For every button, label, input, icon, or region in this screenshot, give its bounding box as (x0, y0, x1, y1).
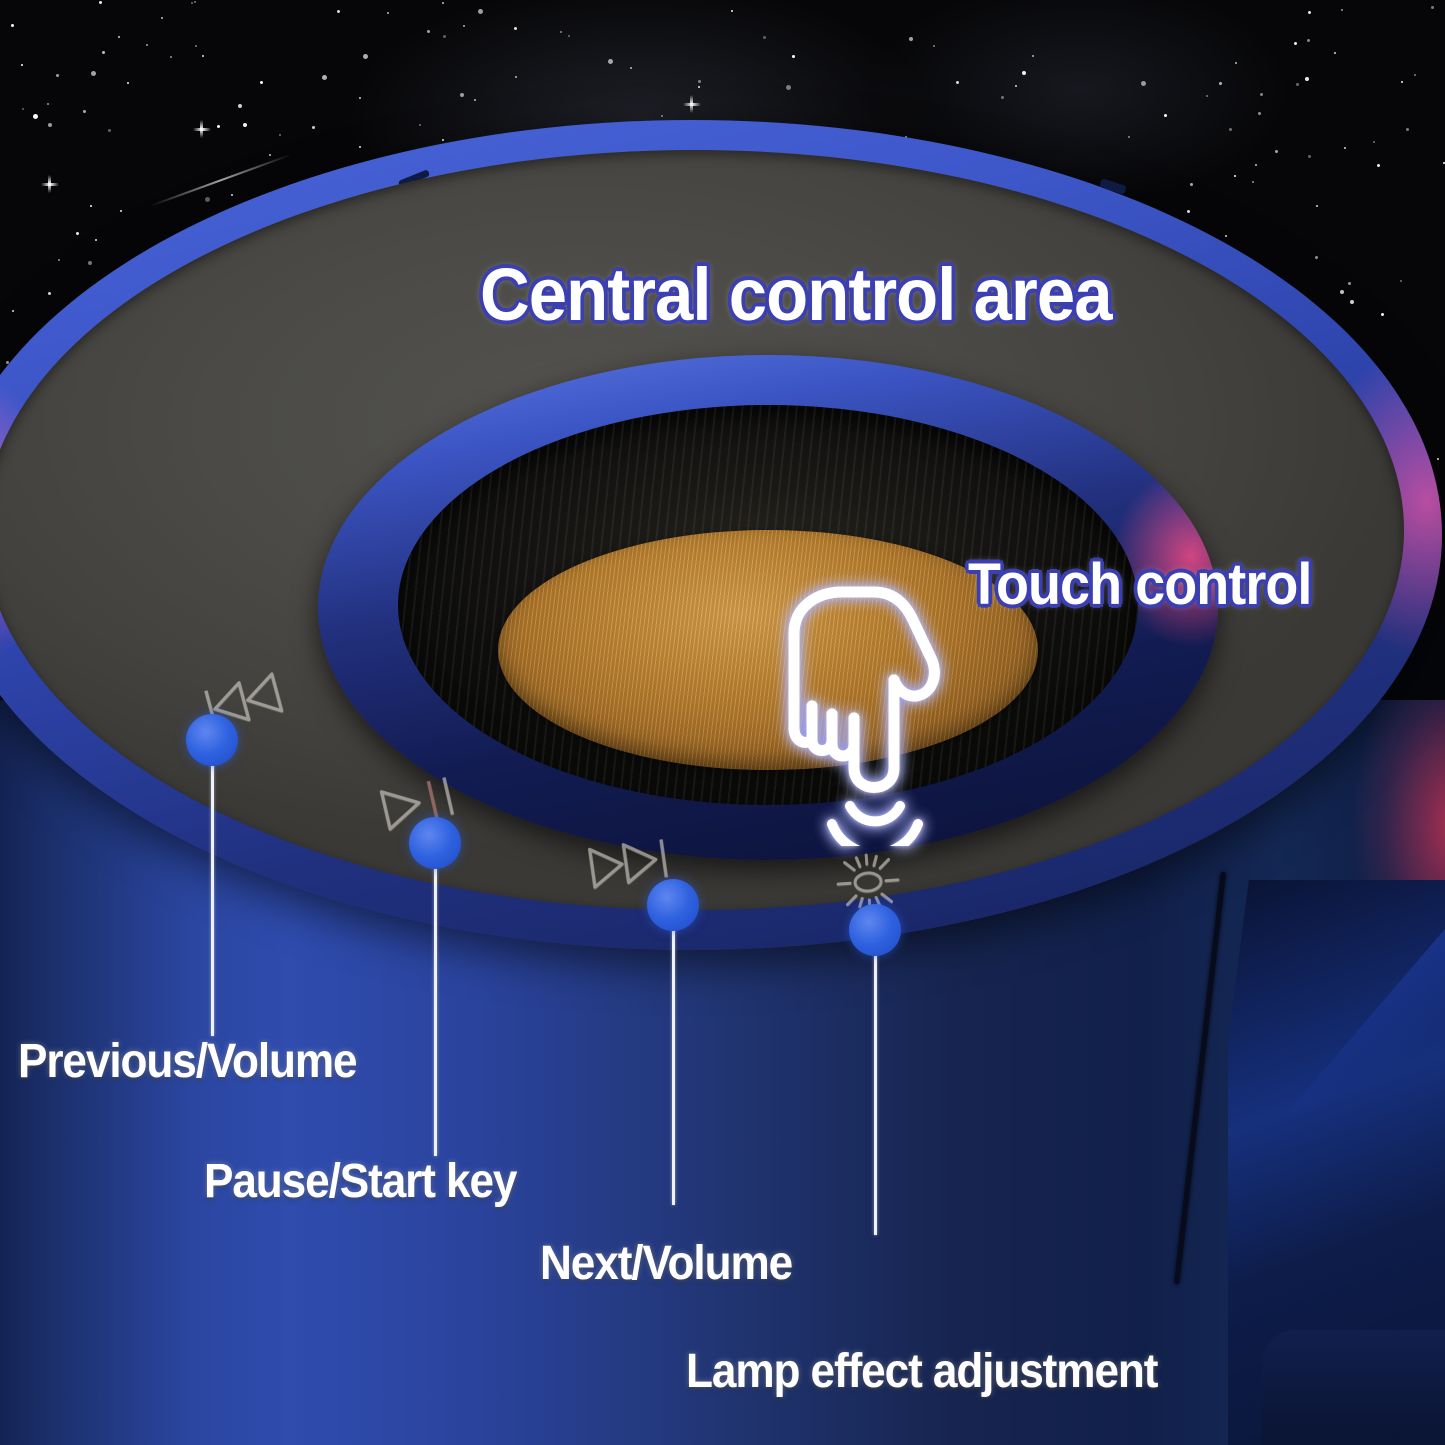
pause-start-key-label: Pause/Start key (204, 1158, 516, 1206)
pointing-hand-touch-icon (770, 578, 960, 846)
lamp-effect-adjustment-label: Lamp effect adjustment (686, 1348, 1157, 1396)
pause-start-key-marker-dot[interactable] (409, 817, 461, 869)
previous-volume-leader-line (211, 764, 214, 1036)
pause-start-key-leader-line (434, 866, 437, 1156)
next-volume-marker-dot[interactable] (647, 879, 699, 931)
speaker-foot (1262, 1330, 1445, 1445)
central-control-area-label: Central control area (480, 258, 1112, 332)
product-annotation-image: Central control areaTouch control Previo… (0, 0, 1445, 1445)
previous-volume-marker-dot[interactable] (186, 714, 238, 766)
lamp-effect-adjustment-leader-line (874, 952, 877, 1235)
previous-volume-label: Previous/Volume (18, 1038, 356, 1086)
next-volume-leader-line (672, 928, 675, 1205)
brightness-sun-icon[interactable] (830, 850, 906, 913)
lamp-effect-adjustment-marker-dot[interactable] (849, 904, 901, 956)
next-volume-label: Next/Volume (540, 1240, 792, 1288)
touch-control-label: Touch control (968, 556, 1311, 614)
